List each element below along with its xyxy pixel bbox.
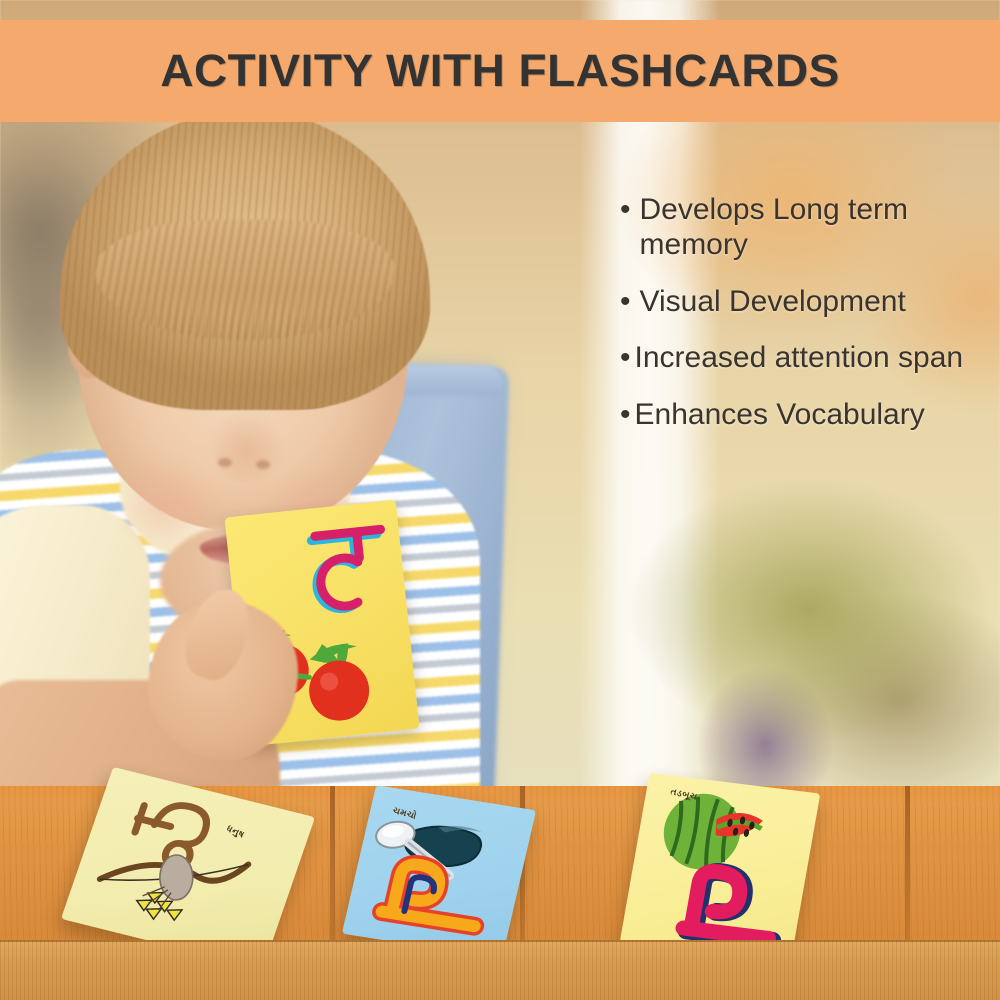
bullet-dot-icon: • (620, 285, 631, 320)
list-item: • Enhances Vocabulary (620, 398, 996, 433)
list-item-label: Develops Long term memory (640, 193, 996, 263)
bullet-dot-icon: • (620, 193, 631, 228)
list-item: • Develops Long term memory (620, 193, 996, 263)
list-item: • Visual Development (620, 285, 996, 320)
table-card-spoon[interactable]: ચમચો (342, 785, 536, 959)
page-title: ACTIVITY WITH FLASHCARDS (160, 45, 839, 97)
list-item-label: Increased attention span (635, 341, 996, 376)
plank-seam (905, 786, 910, 946)
table-card-watermelon[interactable]: તડબૂચ (620, 773, 821, 964)
table-front-edge (0, 940, 1000, 1000)
list-item: • Increased attention span (620, 341, 996, 376)
spoon-card-art (342, 785, 536, 959)
watermelon-card-art (620, 773, 821, 964)
list-item-label: Enhances Vocabulary (635, 398, 996, 433)
plank-seam (330, 786, 335, 946)
benefits-list: • Develops Long term memory • Visual Dev… (620, 193, 996, 455)
poster-root: ધનુષ ચમચો (0, 0, 1000, 1000)
list-item-label: Visual Development (640, 285, 996, 320)
nostril-right (256, 460, 270, 469)
bullet-dot-icon: • (620, 398, 631, 433)
bullet-dot-icon: • (620, 341, 631, 376)
nose (212, 410, 284, 482)
header-banner: ACTIVITY WITH FLASHCARDS (0, 20, 1000, 122)
nostril-left (218, 458, 232, 467)
